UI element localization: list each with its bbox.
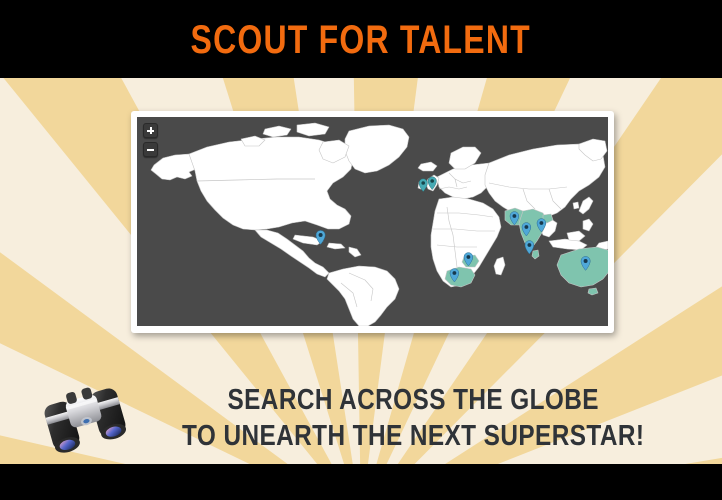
tagline-block: SEARCH ACROSS THE GLOBE TO UNEARTH THE N…	[0, 372, 722, 464]
tagline-line-1: SEARCH ACROSS THE GLOBE	[182, 382, 644, 418]
map-zoom-controls[interactable]	[143, 123, 158, 161]
map-canvas[interactable]	[137, 117, 608, 326]
world-map-svg[interactable]	[137, 117, 608, 326]
land-korea	[573, 202, 579, 209]
footer-bar	[0, 464, 722, 500]
tagline-line-2: TO UNEARTH THE NEXT SUPERSTAR!	[182, 418, 644, 454]
zoom-in-button[interactable]	[143, 123, 158, 138]
header-bar: SCOUT FOR TALENT	[0, 0, 722, 78]
zoom-out-button[interactable]	[143, 142, 158, 157]
binoculars-icon	[38, 378, 134, 458]
map-panel[interactable]	[131, 111, 614, 333]
screen-root: SCOUT FOR TALENT	[0, 0, 722, 500]
tagline-text: SEARCH ACROSS THE GLOBE TO UNEARTH THE N…	[182, 382, 644, 454]
page-title: SCOUT FOR TALENT	[191, 20, 531, 60]
